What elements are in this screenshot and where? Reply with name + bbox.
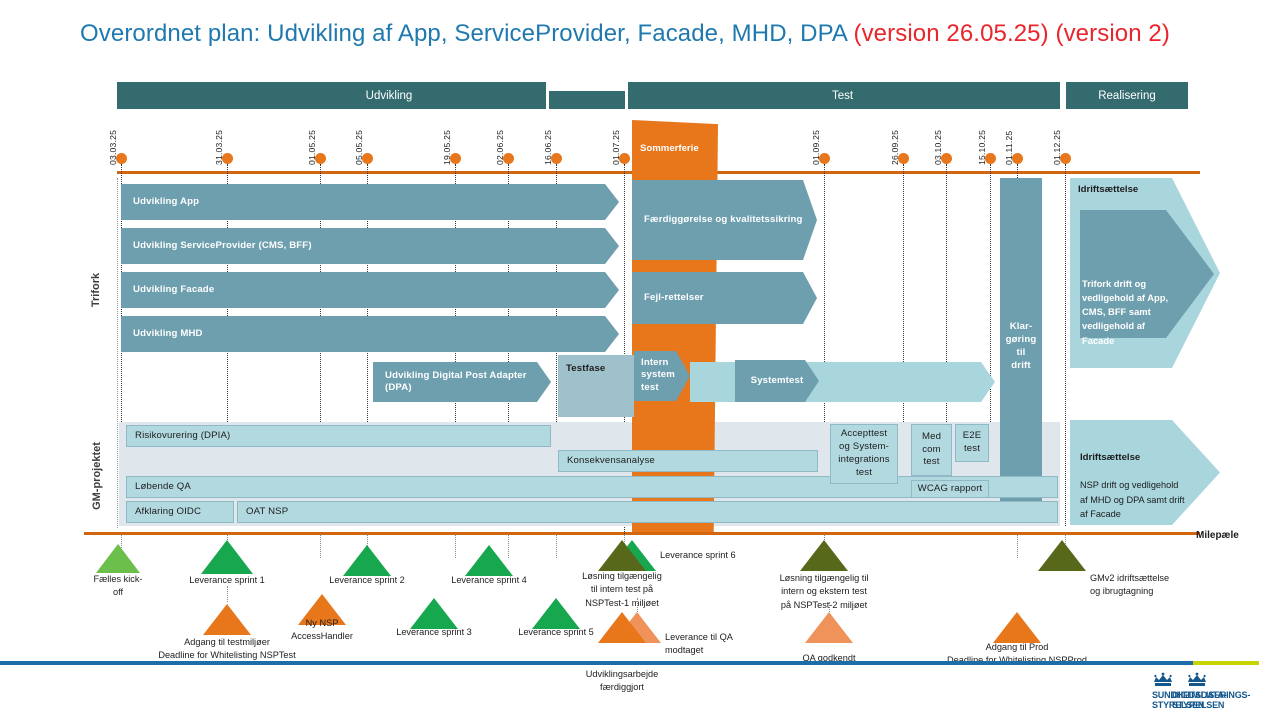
lane-label-gm-projektet: GM-projektet <box>91 434 103 518</box>
milestone-label-leverance-sprint-5: Leverance sprint 5 <box>504 626 608 639</box>
milestone-marker-udviklingsarbejde-faerdiggjort[interactable] <box>598 612 646 643</box>
timeline-rule-bottom <box>84 532 1200 535</box>
gridline-milestone <box>556 534 557 558</box>
milestone-marker-qa-godkendt[interactable] <box>805 612 853 643</box>
page-title-version: (version 26.05.25) (version 2) <box>853 20 1169 47</box>
bar-label: Konsekvensanalyse <box>567 455 655 467</box>
milestone-label-ny-nsp-accesshandler: Ny NSP AccessHandler <box>285 617 359 644</box>
bar-klargoering-til-drift: Klar- gøring til drift <box>1000 178 1042 516</box>
bar-accepttest: Accepttest og System- integrations test <box>830 424 898 484</box>
bar-udvikling-facade: Udvikling Facade <box>121 272 619 308</box>
bar-udvikling-mhd: Udvikling MHD <box>121 316 619 352</box>
date-tick-dot <box>619 153 630 164</box>
milestone-label-loesning-intern-test: Løsning tilgængelig til intern test på N… <box>568 570 676 610</box>
page-title-main: Overordnet plan: Udvikling af App, Servi… <box>80 20 847 47</box>
milestone-marker-faelles-kick-off[interactable] <box>96 544 140 573</box>
gridline-milestone <box>320 534 321 558</box>
idriftsaettelse-trifork-header: Idriftsættelse <box>1078 184 1138 195</box>
bar-label: Med com test <box>922 431 941 470</box>
lane-label-text: GM-projektet <box>91 442 103 510</box>
gridline-milestone <box>455 534 456 558</box>
idriftsaettelse-nsp-title: Idriftsættelse <box>1080 452 1140 463</box>
bar-testfase: Testfase <box>558 355 634 417</box>
date-tick-dot <box>819 153 830 164</box>
milestone-marker-adgang-testmiljoer[interactable] <box>203 604 251 635</box>
milestone-marker-loesning-intern-test[interactable] <box>598 540 646 571</box>
milestone-marker-adgang-til-prod[interactable] <box>993 612 1041 643</box>
milestone-label-leverance-sprint-2: Leverance sprint 2 <box>315 574 419 587</box>
bar-label: E2E test <box>963 430 982 456</box>
phase-label: Udvikling <box>366 90 413 102</box>
gridline-milestone <box>1017 534 1018 558</box>
date-tick-dot <box>222 153 233 164</box>
date-tick-dot <box>503 153 514 164</box>
milestone-axis-label: Milepæle <box>1196 530 1239 541</box>
bar-udvikling-dpa: Udvikling Digital Post Adapter (DPA) <box>373 362 551 402</box>
sommerferie-label: Sommerferie <box>640 143 699 154</box>
bar-label: OAT NSP <box>246 506 288 518</box>
milestone-marker-leverance-sprint-4[interactable] <box>465 545 513 576</box>
page-title: Overordnet plan: Udvikling af App, Servi… <box>80 20 1170 48</box>
bar-afklaring-oidc: Afklaring OIDC <box>126 501 234 523</box>
milestone-connector <box>227 586 228 602</box>
crown-icon-left <box>1152 672 1174 688</box>
date-tick-dot <box>315 153 326 164</box>
milestone-label-gmv2-idriftsaettelse: GMv2 idriftsættelse og ibrugtagning <box>1090 572 1190 599</box>
bar-label: Accepttest og System- integrations test <box>838 428 889 480</box>
bar-konsekvensanalyse: Konsekvensanalyse <box>558 450 818 472</box>
milestone-marker-leverance-sprint-3[interactable] <box>410 598 458 629</box>
bar-label: WCAG rapport <box>918 483 983 495</box>
milestone-label-leverance-qa-modtaget: Leverance til QA modtaget <box>665 631 761 658</box>
bar-udvikling-serviceprovider: Udvikling ServiceProvider (CMS, BFF) <box>121 228 619 264</box>
phase-label: Realisering <box>1098 90 1156 102</box>
phase-header-realisering: Realisering <box>1066 82 1188 109</box>
logo-text-digitaliseringsstyrelsen: DIGITALISERINGS- STYRELSEN <box>1172 690 1250 711</box>
bar-label: Færdiggørelse og kvalitetssikring <box>644 214 803 226</box>
footer-rule-blue <box>0 661 1145 665</box>
phase-header-test: Test <box>625 82 1060 109</box>
bar-medcom-test: Med com test <box>911 424 952 476</box>
bar-label: Udvikling ServiceProvider (CMS, BFF) <box>133 240 312 252</box>
bar-label: Testfase <box>566 363 605 375</box>
bar-wcag-rapport: WCAG rapport <box>911 480 989 498</box>
phase-divider-notch-leg <box>546 82 549 109</box>
date-tick-dot <box>1012 153 1023 164</box>
date-tick-dot <box>898 153 909 164</box>
milestone-connector <box>829 602 830 612</box>
date-tick-dot <box>1060 153 1071 164</box>
phase-divider-realisering <box>1060 82 1066 109</box>
milestone-label-leverance-sprint-6: Leverance sprint 6 <box>660 549 764 562</box>
date-tick-dot <box>551 153 562 164</box>
milestone-marker-leverance-sprint-1[interactable] <box>201 540 253 574</box>
bar-risikovurdering: Risikovurering (DPIA) <box>126 425 551 447</box>
phase-divider-notch <box>546 82 628 91</box>
bar-fejlrettelser: Fejl-rettelser <box>632 272 817 324</box>
bar-udvikling-app: Udvikling App <box>121 184 619 220</box>
milestone-marker-leverance-sprint-2[interactable] <box>343 545 391 576</box>
milestone-label-leverance-sprint-4: Leverance sprint 4 <box>437 574 541 587</box>
phase-label: Test <box>832 90 853 102</box>
milestone-label-leverance-sprint-3: Leverance sprint 3 <box>382 626 486 639</box>
lane-separator <box>117 178 118 528</box>
bar-label: Udvikling Digital Post Adapter (DPA) <box>385 370 551 394</box>
date-tick-dot <box>941 153 952 164</box>
bar-label: Systemtest <box>751 375 804 387</box>
bar-label: Udvikling MHD <box>133 328 203 340</box>
gridline <box>1065 164 1066 526</box>
idriftsaettelse-nsp-body: NSP drift og vedligehold af MHD og DPA s… <box>1080 464 1185 521</box>
date-tick-dot <box>985 153 996 164</box>
date-tick-dot <box>362 153 373 164</box>
milestone-connector <box>637 598 638 612</box>
milestone-marker-loesning-intern-ekstern-test[interactable] <box>800 540 848 571</box>
bar-label: Klar- gøring til drift <box>1000 321 1042 373</box>
milestone-marker-gmv2-idriftsaettelse[interactable] <box>1038 540 1086 571</box>
lane-label-text: Trifork <box>90 273 102 307</box>
sommerferie-text: Sommerferie <box>640 143 699 154</box>
bar-label: Afklaring OIDC <box>135 506 201 518</box>
lane-label-trifork: Trifork <box>90 260 102 320</box>
footer-rule-blue-right <box>1145 661 1193 665</box>
bar-e2e-test: E2E test <box>955 424 989 462</box>
bar-label: Løbende QA <box>135 481 191 493</box>
bar-faerdiggoerelse: Færdiggørelse og kvalitetssikring <box>632 180 817 260</box>
bar-label: Intern system test <box>641 357 675 394</box>
bar-label: Risikovurering (DPIA) <box>135 430 230 442</box>
bar-label: Fejl-rettelser <box>644 292 704 304</box>
bar-label: Udvikling App <box>133 196 199 208</box>
date-tick-dot <box>450 153 461 164</box>
milestone-label-loesning-intern-ekstern-test: Løsning tilgængelig til intern og ekster… <box>760 572 888 612</box>
milestone-label-faelles-kick-off: Fælles kick- off <box>81 573 155 600</box>
slide-canvas: Overordnet plan: Udvikling af App, Servi… <box>0 0 1280 720</box>
footer-rule-yellow <box>1193 661 1259 665</box>
date-tick-dot <box>116 153 127 164</box>
phase-divider-notch-leg2 <box>625 82 628 109</box>
milestone-label-udviklingsarbejde-faerdiggjort: Udviklingsarbejde færdiggjort <box>572 668 672 695</box>
idriftsaettelse-trifork-body: Trifork drift og vedligehold af App, CMS… <box>1082 263 1168 348</box>
bar-label: Udvikling Facade <box>133 284 214 296</box>
bar-oat-nsp: OAT NSP <box>237 501 1058 523</box>
crown-icon-right <box>1186 672 1208 688</box>
bar-systemtest: Systemtest <box>735 360 819 402</box>
